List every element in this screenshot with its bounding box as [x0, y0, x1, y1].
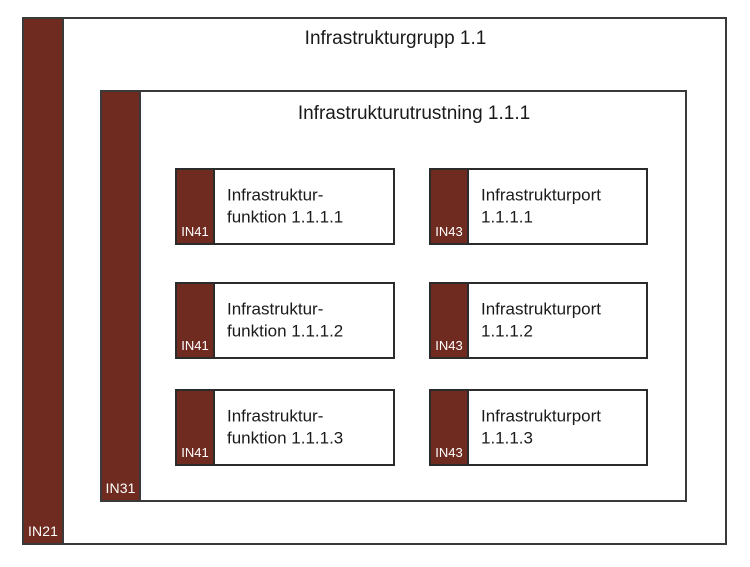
infrastructure-function-tab-label: IN41: [177, 225, 213, 243]
infrastructure-group-title: Infrastrukturgrupp 1.1: [64, 28, 727, 51]
diagram-canvas: IN21 Infrastrukturgrupp 1.1 IN31 Infrast…: [0, 0, 750, 567]
infrastructure-group-tab[interactable]: IN21: [22, 17, 64, 545]
infrastructure-port-label: Infrastrukturport 1.1.1.2: [481, 298, 638, 343]
infrastructure-function-tab-label: IN41: [177, 339, 213, 357]
infrastructure-function-tab[interactable]: IN41: [175, 282, 215, 359]
infrastructure-port-label: Infrastrukturport 1.1.1.1: [481, 184, 638, 229]
infrastructure-group-tab-label: IN21: [24, 524, 62, 543]
infrastructure-function-label: Infrastruktur- funktion 1.1.1.1: [227, 184, 385, 229]
infrastructure-function-tab[interactable]: IN41: [175, 389, 215, 466]
infrastructure-port-box[interactable]: IN43 Infrastrukturport 1.1.1.2: [429, 282, 648, 359]
infrastructure-port-box[interactable]: IN43 Infrastrukturport 1.1.1.3: [429, 389, 648, 466]
infrastructure-function-box[interactable]: IN41 Infrastruktur- funktion 1.1.1.2: [175, 282, 395, 359]
infrastructure-port-label: Infrastrukturport 1.1.1.3: [481, 405, 638, 450]
infrastructure-port-box[interactable]: IN43 Infrastrukturport 1.1.1.1: [429, 168, 648, 245]
infrastructure-function-label: Infrastruktur- funktion 1.1.1.2: [227, 298, 385, 343]
infrastructure-port-tab[interactable]: IN43: [429, 389, 469, 466]
infrastructure-equipment-tab-label: IN31: [102, 481, 139, 500]
infrastructure-port-tab[interactable]: IN43: [429, 282, 469, 359]
infrastructure-function-tab[interactable]: IN41: [175, 168, 215, 245]
infrastructure-function-box[interactable]: IN41 Infrastruktur- funktion 1.1.1.1: [175, 168, 395, 245]
infrastructure-equipment-title: Infrastrukturutrustning 1.1.1: [141, 103, 687, 126]
infrastructure-function-label: Infrastruktur- funktion 1.1.1.3: [227, 405, 385, 450]
infrastructure-port-tab-label: IN43: [431, 339, 467, 357]
infrastructure-equipment-tab[interactable]: IN31: [100, 90, 141, 502]
infrastructure-function-tab-label: IN41: [177, 446, 213, 464]
infrastructure-port-tab[interactable]: IN43: [429, 168, 469, 245]
infrastructure-port-tab-label: IN43: [431, 446, 467, 464]
infrastructure-port-tab-label: IN43: [431, 225, 467, 243]
infrastructure-function-box[interactable]: IN41 Infrastruktur- funktion 1.1.1.3: [175, 389, 395, 466]
